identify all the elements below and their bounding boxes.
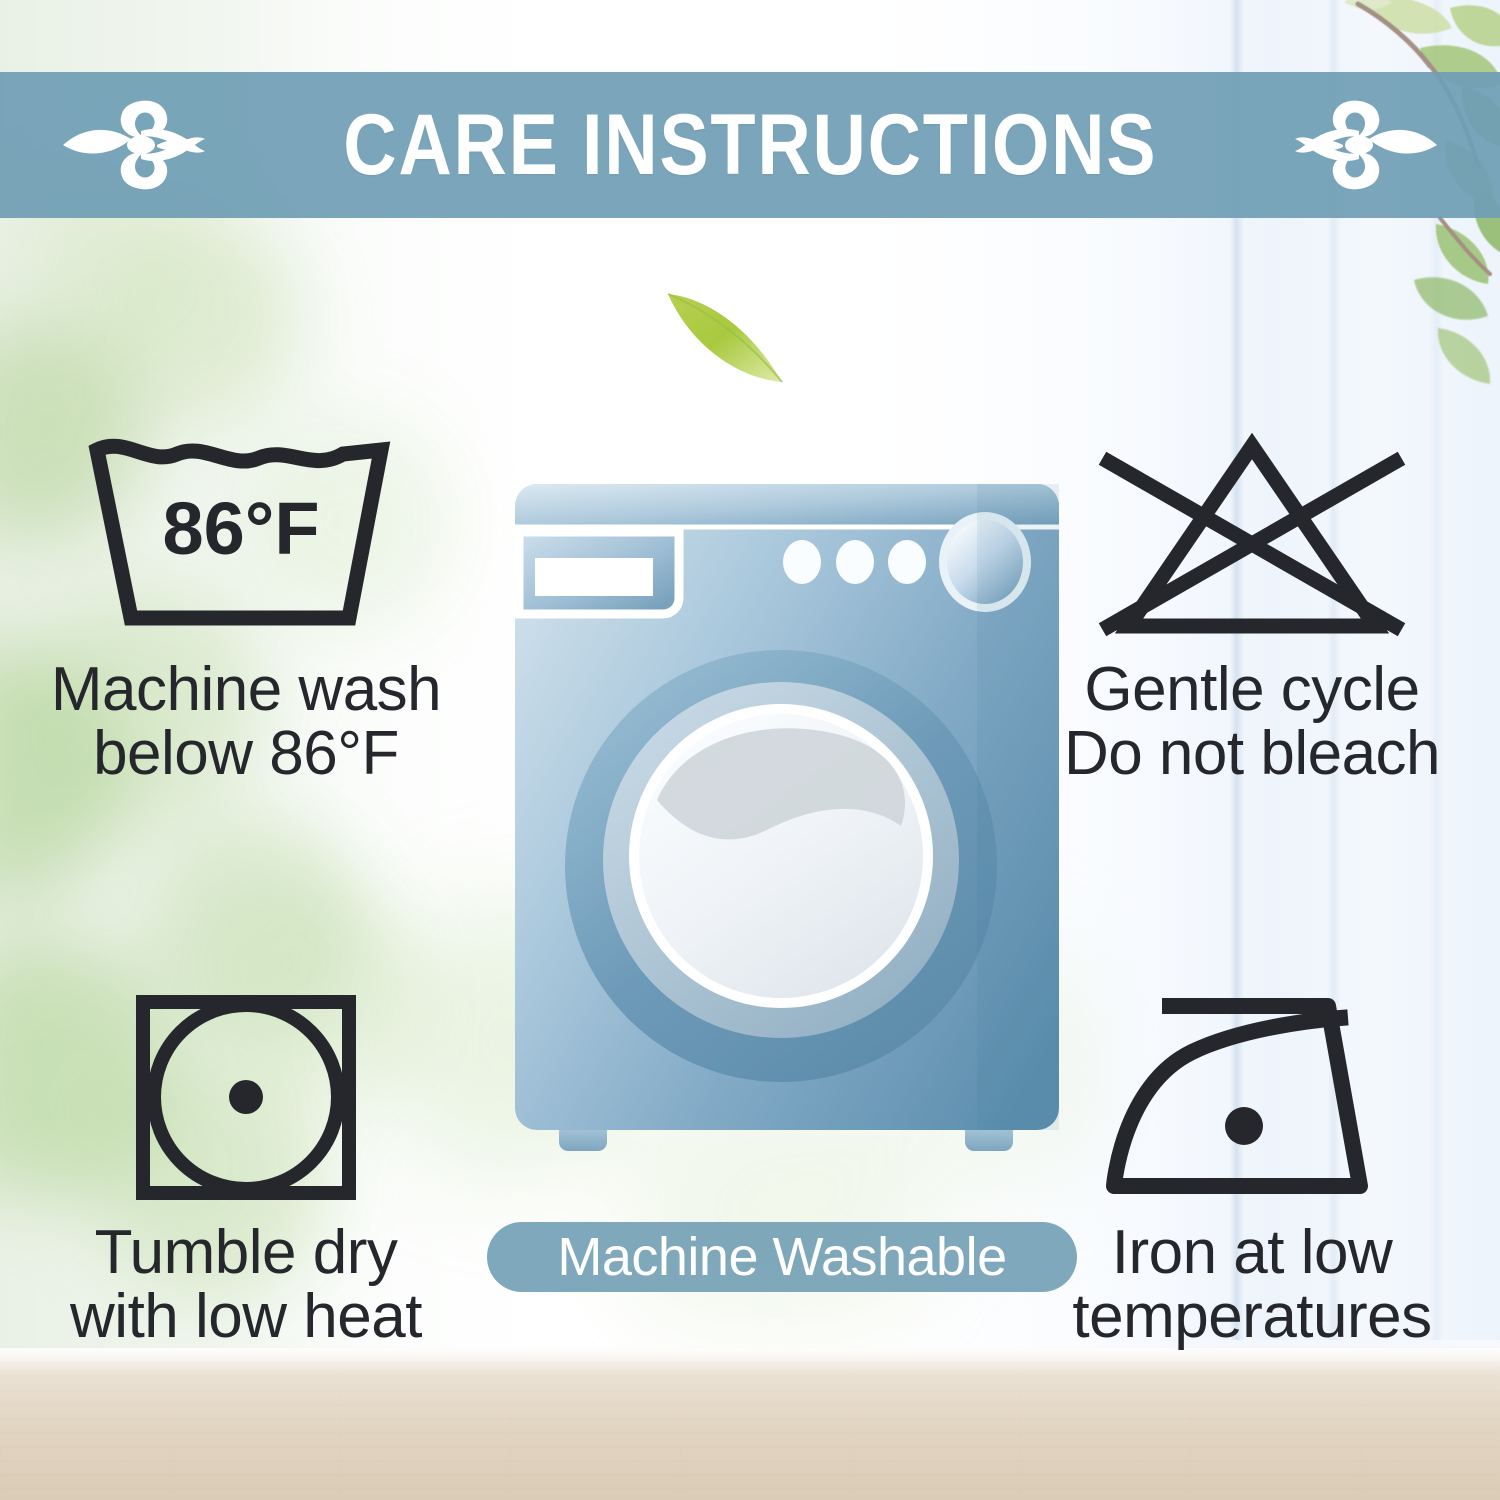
- care-symbol-do-not-bleach: Gentle cycle Do not bleach: [1042, 432, 1462, 786]
- indicator-light: [836, 540, 874, 584]
- care-symbol-iron-low: Iron at low temperatures: [1042, 990, 1462, 1349]
- fleur-de-lis-ornament-icon: [57, 93, 233, 197]
- leaf-icon: [660, 282, 790, 392]
- indicator-light: [888, 540, 926, 584]
- detergent-drawer-slot: [535, 558, 653, 596]
- header-banner: CARE INSTRUCTIONS: [0, 72, 1500, 218]
- tumble-dry-low-icon: [131, 990, 361, 1205]
- care-symbol-label: Tumble dry with low heat: [70, 1221, 422, 1349]
- do-not-bleach-triangle-icon: [1087, 432, 1417, 642]
- machine-washable-badge: Machine Washable: [487, 1222, 1077, 1292]
- care-symbol-machine-wash: 86°F Machine wash below 86°F: [36, 432, 456, 786]
- care-instructions-infographic: CARE INSTRUCTIONS: [0, 0, 1500, 1500]
- washer-side-shading: [977, 484, 1059, 1130]
- care-symbol-tumble-dry-low: Tumble dry with low heat: [36, 990, 456, 1349]
- page-title: CARE INSTRUCTIONS: [343, 102, 1157, 188]
- table-edge-highlight: [0, 1348, 1500, 1372]
- wash-tub-icon: 86°F: [81, 432, 411, 642]
- badge-label: Machine Washable: [557, 1230, 1006, 1284]
- iron-low-temperature-icon: [1092, 990, 1412, 1205]
- care-symbol-label: Iron at low temperatures: [1072, 1221, 1431, 1349]
- wash-temperature-value: 86°F: [162, 487, 319, 570]
- care-symbol-label: Machine wash below 86°F: [51, 658, 441, 786]
- wooden-table-surface: [0, 1348, 1500, 1500]
- indicator-light: [783, 540, 821, 584]
- fleur-de-lis-ornament-icon: [1267, 93, 1443, 197]
- care-symbol-label: Gentle cycle Do not bleach: [1064, 658, 1440, 786]
- washing-machine-illustration: [497, 470, 1077, 1180]
